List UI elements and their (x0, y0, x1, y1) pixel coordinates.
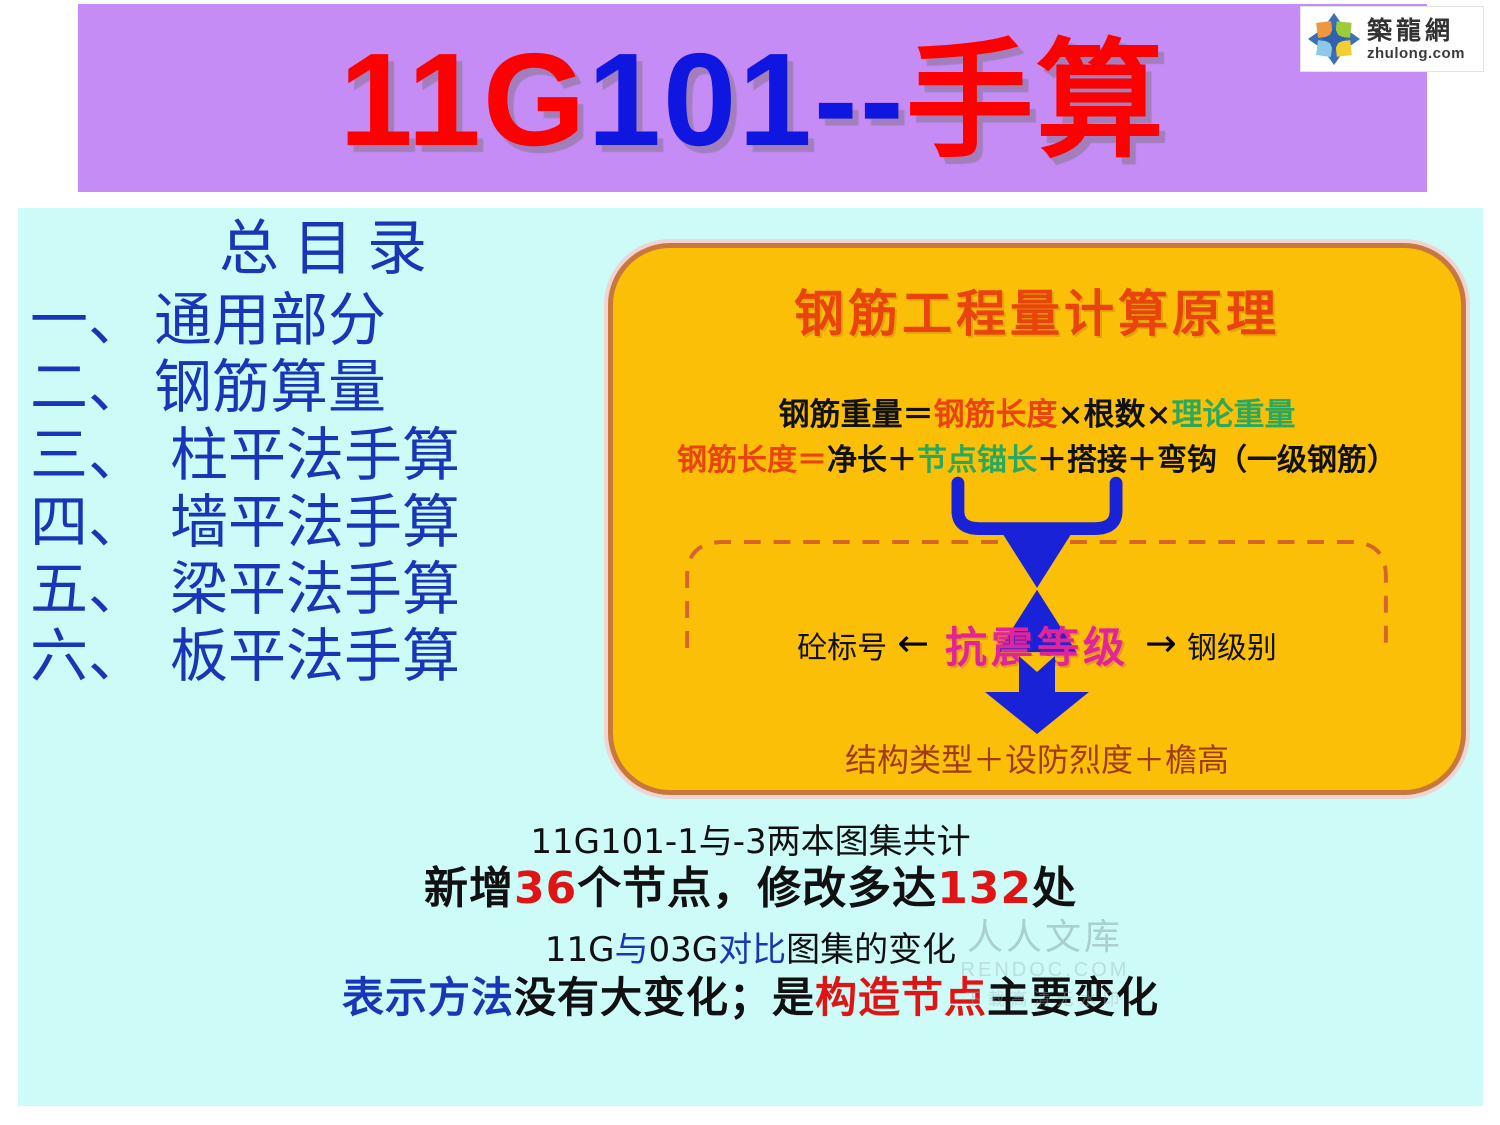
structure-factors-label: 结构类型＋设防烈度＋檐高 (613, 735, 1461, 781)
note3-03g: 03G (649, 930, 719, 970)
concrete-grade-label: 砼标号 (797, 623, 887, 667)
rebar-principle-box: 钢筋工程量计算原理 钢筋重量＝钢筋长度×根数×理论重量 钢筋长度＝净长＋节点锚长… (608, 243, 1466, 795)
note2-new-count: 36 (514, 863, 577, 914)
toc-item-1-num: 一、 (30, 286, 146, 354)
formula-weight-lhs: 钢筋重量＝ (779, 397, 934, 433)
toc-item-4-label: 墙平法手算 (170, 488, 460, 556)
table-of-contents: 总目录 一、通用部分 二、钢筋算量 三、柱平法手算 四、墙平法手算 五、梁平法手… (20, 218, 580, 798)
formula-weight-theory: 理论重量 (1171, 397, 1295, 433)
steel-grade-label: 钢级别 (1187, 623, 1277, 667)
note3-11g: 11G (545, 930, 615, 970)
toc-item-2[interactable]: 二、钢筋算量 (20, 354, 580, 421)
title-band (78, 4, 1427, 192)
note3-tail: 图集的变化 (786, 930, 956, 970)
formula-length-rest: ＋搭接＋弯钩（一级钢筋） (1037, 443, 1397, 478)
zhulong-logo[interactable]: 築龍網 zhulong.com (1300, 6, 1484, 72)
formula-weight-length: 钢筋长度 (934, 397, 1058, 433)
note-line-3: 11G与03G对比图集的变化 (18, 928, 1483, 972)
toc-item-6-num: 六、 (30, 622, 146, 690)
diagram-title: 钢筋工程量计算原理 (613, 274, 1461, 346)
note2-modified-count: 132 (937, 863, 1032, 914)
note2-mid: 个节点，修改多达 (577, 863, 937, 914)
slide-canvas: 11G101--手算 築龍網 zhulong.com 总 (0, 0, 1500, 1125)
note-line-2: 新增36个节点，修改多达132处 (18, 862, 1483, 916)
note-line-1: 11G101-1与-3两本图集共计 (18, 822, 1483, 862)
note3-yu: 与 (615, 930, 649, 970)
toc-item-4[interactable]: 四、墙平法手算 (20, 489, 580, 556)
toc-item-3-label: 柱平法手算 (170, 421, 460, 489)
arrow-left-icon: ← (897, 624, 929, 662)
toc-item-2-num: 二、 (30, 353, 146, 421)
toc-list: 一、通用部分 二、钢筋算量 三、柱平法手算 四、墙平法手算 五、梁平法手算 六、… (20, 287, 580, 691)
note2-suffix: 处 (1032, 863, 1077, 914)
toc-item-2-label: 钢筋算量 (154, 353, 386, 421)
logo-text: 築龍網 zhulong.com (1367, 18, 1465, 61)
note-line-4: 表示方法没有大变化；是构造节点主要变化 (18, 972, 1483, 1025)
down-arrow-icon (977, 656, 1097, 739)
summary-notes: 11G101-1与-3两本图集共计 新增36个节点，修改多达132处 11G与0… (18, 822, 1483, 1024)
flower-diamond-icon (1307, 12, 1361, 66)
note2-prefix: 新增 (424, 863, 514, 914)
toc-item-3[interactable]: 三、柱平法手算 (20, 422, 580, 489)
toc-item-1-label: 通用部分 (154, 286, 386, 354)
formula-length-lhs: 钢筋长度＝ (677, 443, 827, 478)
formula-weight: 钢筋重量＝钢筋长度×根数×理论重量 (613, 389, 1461, 434)
note4-mid: 没有大变化；是 (514, 973, 815, 1022)
formula-length-anchor: 节点锚长 (917, 443, 1037, 478)
toc-item-6-label: 板平法手算 (170, 622, 460, 690)
note4-detail: 构造节点 (815, 973, 987, 1022)
note3-compare: 对比 (718, 930, 786, 970)
formula-length-net: 净长＋ (827, 443, 917, 478)
toc-item-5-num: 五、 (30, 555, 146, 623)
toc-item-5-label: 梁平法手算 (170, 555, 460, 623)
logo-domain: zhulong.com (1367, 46, 1465, 61)
logo-name-cn: 築龍網 (1367, 18, 1465, 43)
note4-tail: 主要变化 (987, 973, 1159, 1022)
toc-heading: 总目录 (20, 218, 580, 281)
formula-length: 钢筋长度＝净长＋节点锚长＋搭接＋弯钩（一级钢筋） (613, 435, 1461, 479)
toc-item-6[interactable]: 六、板平法手算 (20, 623, 580, 690)
toc-item-5[interactable]: 五、梁平法手算 (20, 556, 580, 623)
toc-item-4-num: 四、 (30, 488, 146, 556)
note4-method: 表示方法 (342, 973, 514, 1022)
formula-weight-count: ×根数× (1058, 397, 1172, 433)
toc-item-1[interactable]: 一、通用部分 (20, 287, 580, 354)
arrow-right-icon: → (1145, 624, 1177, 662)
toc-item-3-num: 三、 (30, 421, 146, 489)
